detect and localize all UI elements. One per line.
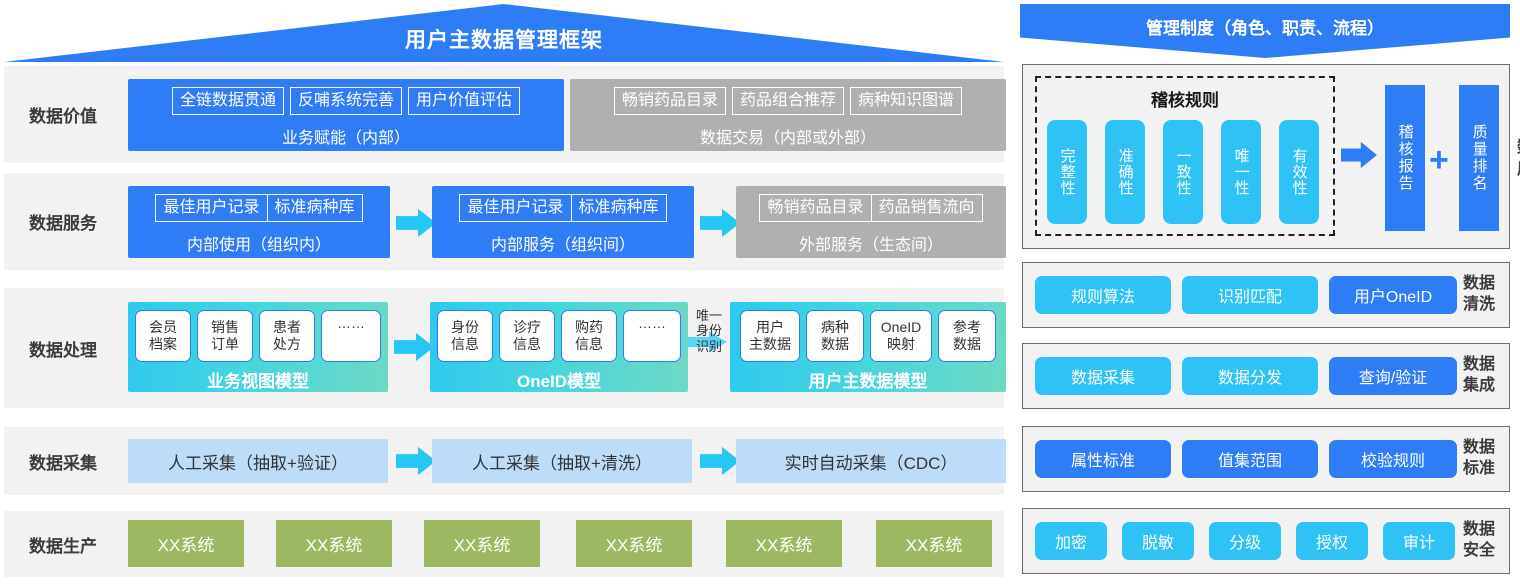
row-data-collection: 数据采集 人工采集（抽取+验证） 人工采集（抽取+清洗） 实时自动采集（CDC） — [4, 427, 1004, 495]
row-label-data-value: 数据价值 — [4, 66, 122, 163]
pill[interactable]: 查询/验证 — [1329, 357, 1457, 395]
group-internal-use[interactable]: 最佳用户记录 标准病种库 内部使用（组织内） — [128, 186, 390, 258]
card-label: 数据 安全 — [1453, 520, 1505, 562]
group-external-service[interactable]: 畅销药品目录 药品销售流向 外部服务（生态间） — [736, 186, 1006, 258]
chip[interactable]: 诊疗 信息 — [499, 310, 555, 362]
chip-list: 最佳用户记录 标准病种库 — [128, 194, 390, 222]
pill[interactable]: 加密 — [1035, 522, 1107, 560]
card-data-security: 加密 脱敏 分级 授权 审计 数据 安全 — [1022, 508, 1510, 574]
group-name: 内部服务（组织间） — [491, 231, 635, 255]
group-user-master-data-model[interactable]: 用户 主数据 病种 数据 OneID 映射 参考 数据 用户主数据模型 — [730, 302, 1006, 392]
chip[interactable]: 病种 数据 — [806, 310, 864, 362]
chip[interactable]: 药品销售流向 — [872, 194, 983, 222]
chip[interactable]: 患者 处方 — [259, 310, 315, 362]
system-box[interactable]: XX系统 — [876, 520, 992, 567]
audit-report-bar[interactable]: 稽核报告 — [1385, 85, 1425, 231]
row-data-production: 数据生产 XX系统 XX系统 XX系统 XX系统 XX系统 XX系统 — [4, 511, 1004, 577]
card-label: 数据 集成 — [1453, 355, 1505, 397]
chip[interactable]: 反哺系统完善 — [290, 87, 402, 115]
collection-bar[interactable]: 人工采集（抽取+验证） — [128, 439, 388, 483]
row-label-data-collection: 数据采集 — [4, 427, 122, 495]
left-panel: 用户主数据管理框架 数据价值 全链数据贯通 反哺系统完善 用户价值评估 业务赋能… — [0, 0, 1008, 584]
right-panel: 管理制度（角色、职责、流程） 稽核规则 完整性 准确性 一致性 唯一性 有效性 … — [1008, 0, 1520, 584]
system-box[interactable]: XX系统 — [276, 520, 392, 567]
chip[interactable]: 药品组合推荐 — [732, 87, 844, 115]
chip[interactable]: 用户 主数据 — [740, 310, 800, 362]
chip[interactable]: …… — [623, 310, 681, 362]
flow-arrow-icon — [396, 446, 436, 476]
chip-list: 用户 主数据 病种 数据 OneID 映射 参考 数据 — [740, 310, 996, 362]
plus-icon: + — [1429, 143, 1449, 177]
group-name: 业务赋能（内部） — [282, 124, 410, 148]
chip[interactable]: 参考 数据 — [938, 310, 996, 362]
chip-list: 会员 档案 销售 订单 患者 处方 …… — [135, 310, 381, 362]
group-name: 数据交易（内部或外部） — [700, 124, 876, 148]
rule-pill[interactable]: 一致性 — [1163, 120, 1203, 224]
flow-arrow-icon — [700, 208, 740, 238]
group-name: 外部服务（生态间） — [799, 231, 943, 255]
system-box[interactable]: XX系统 — [424, 520, 540, 567]
rule-pill[interactable]: 完整性 — [1047, 120, 1087, 224]
flow-arrow-icon — [396, 208, 436, 238]
chip-list: 身份 信息 诊疗 信息 购药 信息 …… — [437, 310, 681, 362]
audit-rules-dashed-box: 稽核规则 完整性 准确性 一致性 唯一性 有效性 — [1035, 76, 1335, 236]
group-internal-service[interactable]: 最佳用户记录 标准病种库 内部服务（组织间） — [432, 186, 694, 258]
chip[interactable]: 会员 档案 — [135, 310, 191, 362]
group-business-enablement[interactable]: 全链数据贯通 反哺系统完善 用户价值评估 业务赋能（内部） — [128, 79, 564, 151]
row-label-data-service: 数据服务 — [4, 173, 122, 270]
system-box[interactable]: XX系统 — [576, 520, 692, 567]
chip[interactable]: 标准病种库 — [268, 194, 363, 222]
card-label: 数据 标准 — [1453, 438, 1505, 480]
chip[interactable]: 购药 信息 — [561, 310, 617, 362]
collection-bar[interactable]: 实时自动采集（CDC） — [736, 439, 1006, 483]
system-box[interactable]: XX系统 — [726, 520, 842, 567]
connector-label: 唯一 身份 识别 — [689, 308, 729, 354]
chip[interactable]: 标准病种库 — [572, 194, 667, 222]
pill[interactable]: 校验规则 — [1329, 440, 1457, 478]
rule-pill[interactable]: 准确性 — [1105, 120, 1145, 224]
group-name: 业务视图模型 — [207, 367, 309, 392]
collection-bar[interactable]: 人工采集（抽取+清洗） — [432, 439, 692, 483]
row-label-data-processing: 数据处理 — [4, 288, 122, 408]
diagram-root: 用户主数据管理框架 数据价值 全链数据贯通 反哺系统完善 用户价值评估 业务赋能… — [0, 0, 1520, 584]
rule-pill[interactable]: 有效性 — [1279, 120, 1319, 224]
chip[interactable]: 畅销药品目录 — [614, 87, 726, 115]
group-name: 内部使用（组织内） — [187, 231, 331, 255]
group-name: 用户主数据模型 — [809, 367, 928, 392]
chip-list: 全链数据贯通 反哺系统完善 用户价值评估 — [128, 87, 564, 115]
unique-identity-connector: 唯一 身份 识别 — [689, 308, 729, 380]
chip[interactable]: 畅销药品目录 — [759, 194, 871, 222]
chip[interactable]: 病种知识图谱 — [850, 87, 962, 115]
pill[interactable]: 属性标准 — [1035, 440, 1171, 478]
row-data-value: 数据价值 全链数据贯通 反哺系统完善 用户价值评估 业务赋能（内部） 畅销药品目… — [4, 66, 1004, 163]
card-data-cleaning: 规则算法 识别匹配 用户OneID 数据 清洗 — [1022, 262, 1510, 328]
chip[interactable]: 用户价值评估 — [408, 87, 520, 115]
flow-arrow-icon — [394, 332, 434, 362]
chip-list: 畅销药品目录 药品组合推荐 病种知识图谱 — [570, 87, 1006, 115]
group-name: OneID模型 — [517, 367, 601, 392]
pill[interactable]: 数据采集 — [1035, 357, 1171, 395]
pill[interactable]: 值集范围 — [1182, 440, 1318, 478]
chip[interactable]: 销售 订单 — [197, 310, 253, 362]
management-system-banner: 管理制度（角色、职责、流程） — [1020, 4, 1510, 58]
framework-title-banner: 用户主数据管理框架 — [4, 4, 1004, 62]
audit-rules-title: 稽核规则 — [1037, 86, 1333, 111]
group-oneid-model[interactable]: 身份 信息 诊疗 信息 购药 信息 …… OneID模型 — [430, 302, 688, 392]
row-data-processing: 数据处理 会员 档案 销售 订单 患者 处方 …… 业务视图模型 身份 信息 诊… — [4, 288, 1004, 408]
group-business-view-model[interactable]: 会员 档案 销售 订单 患者 处方 …… 业务视图模型 — [128, 302, 388, 392]
rule-pill[interactable]: 唯一性 — [1221, 120, 1261, 224]
card-data-integration: 数据采集 数据分发 查询/验证 数据 集成 — [1022, 343, 1510, 409]
chip[interactable]: 全链数据贯通 — [172, 87, 284, 115]
row-data-service: 数据服务 最佳用户记录 标准病种库 内部使用（组织内） 最佳用户记录 标准病种库… — [4, 173, 1004, 270]
pill[interactable]: 识别匹配 — [1182, 276, 1318, 314]
chip[interactable]: OneID 映射 — [870, 310, 932, 362]
chip[interactable]: …… — [321, 310, 381, 362]
pill[interactable]: 数据分发 — [1182, 357, 1318, 395]
chip[interactable]: 最佳用户记录 — [155, 194, 267, 222]
card-data-standard: 属性标准 值集范围 校验规则 数据 标准 — [1022, 426, 1510, 492]
pill[interactable]: 审计 — [1383, 522, 1455, 560]
chip[interactable]: 最佳用户记录 — [459, 194, 571, 222]
quality-flow-arrow-icon — [1341, 141, 1377, 169]
quality-ranking-bar[interactable]: 质量排名 — [1459, 85, 1499, 231]
row-label-data-production: 数据生产 — [4, 511, 122, 577]
flow-arrow-icon — [700, 446, 740, 476]
pill[interactable]: 用户OneID — [1329, 276, 1457, 314]
card-label: 数据 清洗 — [1453, 274, 1505, 316]
pill[interactable]: 脱敏 — [1122, 522, 1194, 560]
pill[interactable]: 授权 — [1296, 522, 1368, 560]
card-label-data-quality: 数据 质量 — [1505, 137, 1520, 180]
page-title: 用户主数据管理框架 — [4, 24, 1004, 54]
chip-list: 最佳用户记录 标准病种库 — [432, 194, 694, 222]
card-data-quality: 稽核规则 完整性 准确性 一致性 唯一性 有效性 稽核报告 + 质量排名 数据 … — [1022, 64, 1510, 249]
chip-list: 畅销药品目录 药品销售流向 — [736, 194, 1006, 222]
group-data-trading[interactable]: 畅销药品目录 药品组合推荐 病种知识图谱 数据交易（内部或外部） — [570, 79, 1006, 151]
right-panel-title: 管理制度（角色、职责、流程） — [1020, 14, 1510, 39]
pill[interactable]: 分级 — [1209, 522, 1281, 560]
chip[interactable]: 身份 信息 — [437, 310, 493, 362]
system-box[interactable]: XX系统 — [128, 520, 244, 567]
pill[interactable]: 规则算法 — [1035, 276, 1171, 314]
